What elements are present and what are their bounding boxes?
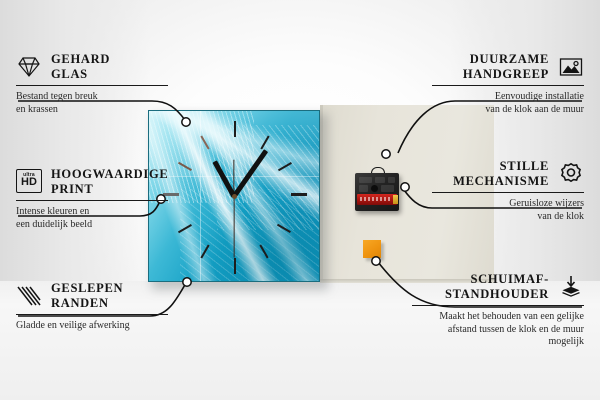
feature-head: GEHARDGLAS bbox=[16, 52, 168, 81]
picture-frame-icon bbox=[558, 54, 584, 80]
mechanism-vent-3 bbox=[388, 177, 395, 183]
ultra-hd-icon: ultra HD bbox=[16, 169, 42, 195]
clock-mechanism bbox=[355, 173, 399, 211]
feature-title: STILLEMECHANISME bbox=[453, 159, 549, 188]
feature-description: Eenvoudige installatievan de klok aan de… bbox=[432, 91, 584, 116]
mechanism-vent-4 bbox=[359, 185, 368, 192]
bevelled-edge-icon bbox=[16, 283, 42, 309]
mechanism-vent-1 bbox=[359, 177, 372, 183]
feature-gehard-glas[interactable]: GEHARDGLAS Bestand tegen breuken krassen bbox=[16, 52, 168, 116]
clock-tick-6 bbox=[234, 258, 236, 274]
diamond-icon bbox=[16, 54, 42, 80]
feature-hoogwaardige-print[interactable]: ultra HD HOOGWAARDIGEPRINT Intense kleur… bbox=[16, 167, 168, 231]
feature-description: Geruisloze wijzersvan de klok bbox=[432, 198, 584, 223]
clock-tick-12 bbox=[234, 121, 236, 137]
feature-duurzame-handgreep[interactable]: DUURZAMEHANDGREEP Eenvoudige installatie… bbox=[432, 52, 584, 116]
clock-tick-3 bbox=[291, 193, 307, 196]
clock-second-hand-lower bbox=[233, 196, 234, 258]
mechanism-battery-label bbox=[360, 197, 392, 201]
feature-head: GESLEPENRANDEN bbox=[16, 281, 168, 310]
feature-schuimaf-standhouder[interactable]: SCHUIMAF-STANDHOUDER Maakt het behouden … bbox=[412, 272, 584, 349]
product-feature-infographic: GEHARDGLAS Bestand tegen breuken krassen… bbox=[0, 0, 600, 400]
feature-divider bbox=[412, 305, 584, 306]
mechanism-screw-hole-1 bbox=[371, 185, 378, 192]
gear-icon bbox=[558, 161, 584, 187]
feature-divider bbox=[432, 85, 584, 86]
feature-title: HOOGWAARDIGEPRINT bbox=[51, 167, 168, 196]
feature-head: STILLEMECHANISME bbox=[432, 159, 584, 188]
feature-title: GEHARDGLAS bbox=[51, 52, 110, 81]
ultra-hd-icon-main-label: HD bbox=[21, 177, 37, 188]
feature-description: Intense kleuren eneen duidelijk beeld bbox=[16, 206, 168, 231]
feature-head: DUURZAMEHANDGREEP bbox=[432, 52, 584, 81]
feature-head: ultra HD HOOGWAARDIGEPRINT bbox=[16, 167, 168, 196]
feature-divider bbox=[16, 85, 168, 86]
foam-spacer bbox=[363, 240, 381, 258]
feature-title: DUURZAMEHANDGREEP bbox=[463, 52, 549, 81]
glass-wall-clock bbox=[148, 110, 320, 282]
mechanism-vent-5 bbox=[381, 185, 394, 192]
mechanism-battery-terminal bbox=[393, 195, 398, 204]
spacer-arrow-icon bbox=[558, 274, 584, 300]
mechanism-vent-2 bbox=[375, 177, 385, 183]
feature-divider bbox=[16, 314, 168, 315]
feature-head: SCHUIMAF-STANDHOUDER bbox=[412, 272, 584, 301]
feature-description: Maakt het behouden van een gelijkeafstan… bbox=[412, 311, 584, 349]
feature-divider bbox=[432, 192, 584, 193]
feature-divider bbox=[16, 200, 168, 201]
feature-title: SCHUIMAF-STANDHOUDER bbox=[445, 272, 549, 301]
feature-stille-mechanisme[interactable]: STILLEMECHANISME Geruisloze wijzersvan d… bbox=[432, 159, 584, 223]
feature-description: Bestand tegen breuken krassen bbox=[16, 91, 168, 116]
clock-center-cap bbox=[232, 194, 237, 199]
feature-title: GESLEPENRANDEN bbox=[51, 281, 123, 310]
feature-geslepen-randen[interactable]: GESLEPENRANDEN Gladde en veilige afwerki… bbox=[16, 281, 168, 333]
feature-description: Gladde en veilige afwerking bbox=[16, 320, 168, 333]
